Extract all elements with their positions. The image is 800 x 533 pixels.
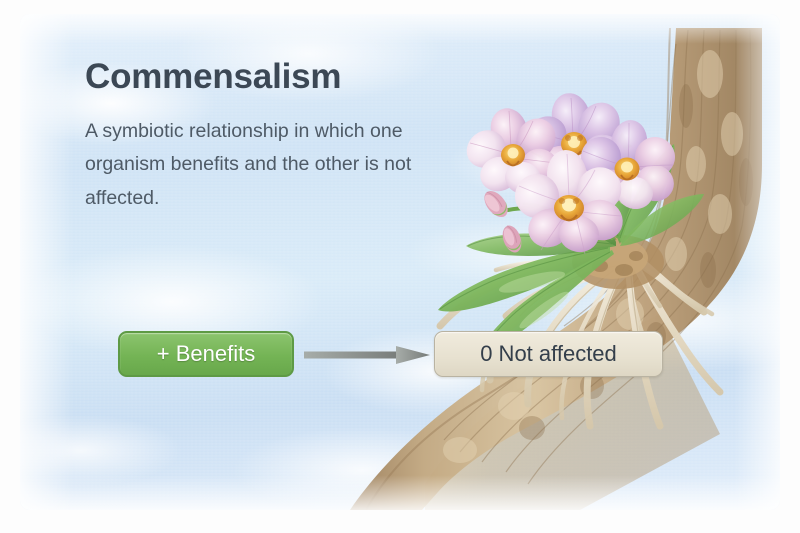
root-ball — [572, 235, 664, 289]
page-title: Commensalism — [85, 58, 415, 97]
arrow-right-icon — [304, 346, 430, 364]
text-block: Commensalism A symbiotic relationship in… — [85, 58, 415, 215]
flower-stems — [508, 136, 630, 238]
description-text: A symbiotic relationship in which one or… — [85, 115, 415, 216]
relationship-row: + Benefits 0 Not affected — [118, 331, 663, 379]
orchid-flower — [506, 148, 629, 255]
benefits-tag-label: + Benefits — [157, 341, 255, 367]
benefits-tag[interactable]: + Benefits — [118, 331, 294, 377]
orchid-buds — [480, 187, 525, 255]
not-affected-tag-label: 0 Not affected — [480, 341, 617, 367]
orchid-flower — [518, 90, 631, 190]
orchid-leaves — [438, 132, 704, 354]
orchid-flower — [459, 104, 565, 198]
not-affected-tag[interactable]: 0 Not affected — [434, 331, 663, 377]
orchid-flower — [574, 117, 683, 211]
commensalism-slide: Commensalism A symbiotic relationship in… — [0, 0, 800, 533]
